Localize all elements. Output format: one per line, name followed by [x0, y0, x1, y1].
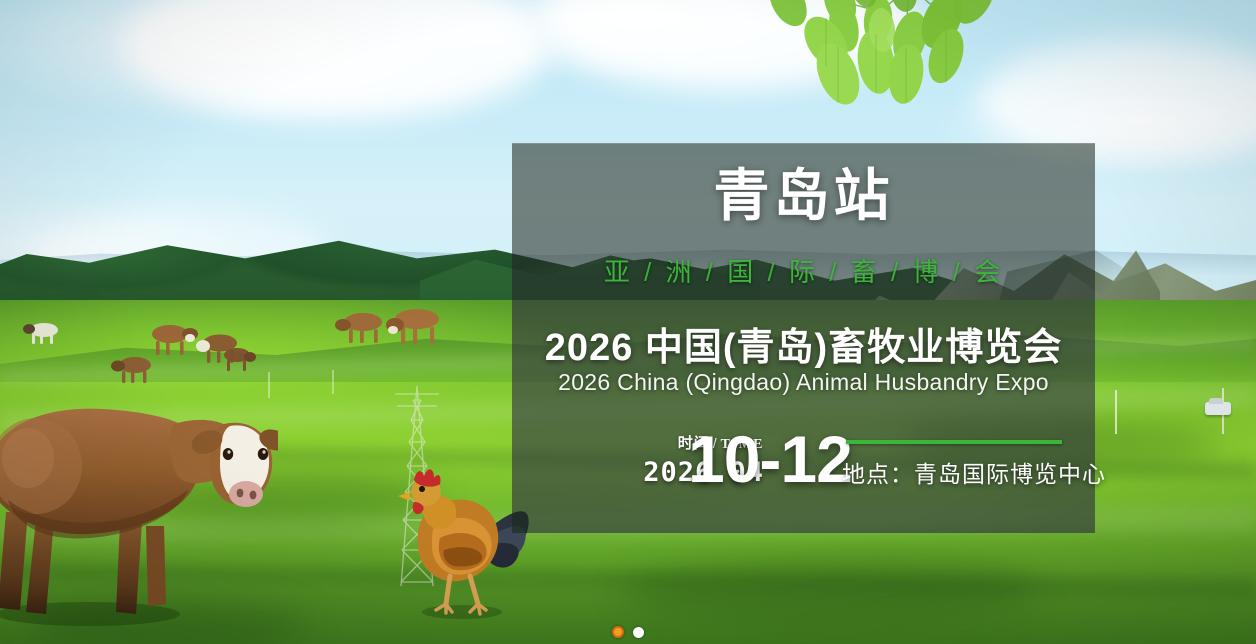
green-leaves-branch — [760, 0, 1030, 136]
date-venue-row: 时间/TIME 2026.04 10-12 地点：青岛国际博览中心 — [512, 432, 1095, 502]
subtitle-slashed: 亚 / 洲 / 国 / 际 / 畜 / 博 / 会 — [512, 252, 1095, 289]
expo-title-cn: 2026 中国(青岛)畜牧业博览会 — [512, 316, 1095, 371]
subtitle-char: 会 — [974, 257, 1003, 287]
carousel-dot-1[interactable] — [612, 626, 624, 638]
white-vehicle — [1205, 402, 1231, 415]
venue-accent-rule — [846, 440, 1062, 444]
slash-separator: / — [890, 257, 902, 287]
expo-info-panel: 青岛站 亚 / 洲 / 国 / 际 / 畜 / 博 / 会 2026 中国(青岛… — [512, 143, 1095, 533]
expo-banner-slide: 青岛站 亚 / 洲 / 国 / 际 / 畜 / 博 / 会 2026 中国(青岛… — [0, 0, 1256, 644]
grazing-cow — [382, 304, 450, 346]
fence-pole — [1115, 390, 1117, 434]
carousel-dots[interactable] — [0, 626, 1256, 638]
subtitle-char: 国 — [727, 257, 756, 287]
grazing-cow — [20, 318, 66, 346]
slash-separator: / — [767, 257, 779, 287]
station-title: 青岛站 — [512, 168, 1095, 224]
subtitle-char: 博 — [912, 257, 941, 287]
slash-separator: / — [828, 257, 840, 287]
fence-pole — [332, 370, 334, 394]
grazing-cow — [140, 320, 198, 356]
slash-separator: / — [952, 257, 964, 287]
subtitle-char: 畜 — [851, 257, 880, 287]
slash-separator: / — [643, 257, 655, 287]
brown-cow-foreground — [0, 362, 278, 630]
subtitle-char: 洲 — [666, 257, 695, 287]
slash-separator: / — [705, 257, 717, 287]
expo-title-en: 2026 China (Qingdao) Animal Husbandry Ex… — [512, 369, 1095, 396]
venue-block: 地点：青岛国际博览中心 — [842, 440, 1087, 489]
subtitle-char: 亚 — [604, 257, 633, 287]
venue-text: 地点：青岛国际博览中心 — [842, 455, 1087, 489]
date-day-range: 10-12 — [688, 426, 852, 492]
grass-shadow — [620, 560, 1040, 620]
subtitle-char: 际 — [789, 257, 818, 287]
carousel-dot-2[interactable] — [633, 627, 644, 638]
